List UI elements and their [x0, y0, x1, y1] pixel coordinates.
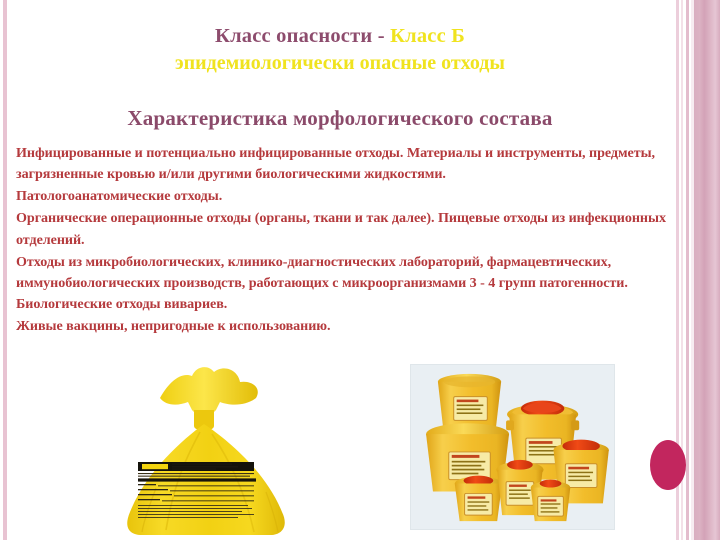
slide-title-accent: Класс Б: [390, 25, 465, 47]
decorative-band-right: [694, 0, 720, 540]
body-paragraph: Инфицированные и потенциально инфицирова…: [16, 143, 678, 185]
decorative-circle-accent: [650, 440, 686, 490]
yellow-waste-bag-illustration: [96, 362, 312, 540]
section-heading: Характеристика морфологического состава: [40, 106, 640, 131]
body-paragraph: Отходы из микробиологических, клинико-ди…: [16, 252, 678, 315]
decorative-stripe-right-3: [686, 0, 689, 540]
image-sharps-containers: [410, 364, 615, 530]
body-text-block: Инфицированные и потенциально инфицирова…: [16, 143, 678, 338]
slide-title-prefix: Класс опасности -: [215, 25, 390, 47]
bag-knot-ruffle: [160, 367, 258, 414]
body-paragraph: Органические операционные отходы (органы…: [16, 208, 678, 250]
container-small-front-left: [455, 476, 502, 521]
container-smallest-front: [531, 480, 571, 521]
decorative-stripe-left: [3, 0, 7, 540]
body-paragraph: Патологоанатомические отходы.: [16, 186, 678, 207]
image-yellow-waste-bag: [96, 362, 312, 540]
slide-subtitle: эпидемиологически опасные отходы: [40, 51, 640, 75]
slide-title: Класс опасности - Класс Б эпидемиологиче…: [40, 24, 640, 75]
body-paragraph: Живые вакцины, непригодные к использован…: [16, 316, 678, 337]
slide-title-main-line: Класс опасности - Класс Б: [40, 24, 640, 49]
sharps-containers-illustration: [411, 365, 614, 529]
presentation-slide: Класс опасности - Класс Б эпидемиологиче…: [0, 0, 720, 540]
